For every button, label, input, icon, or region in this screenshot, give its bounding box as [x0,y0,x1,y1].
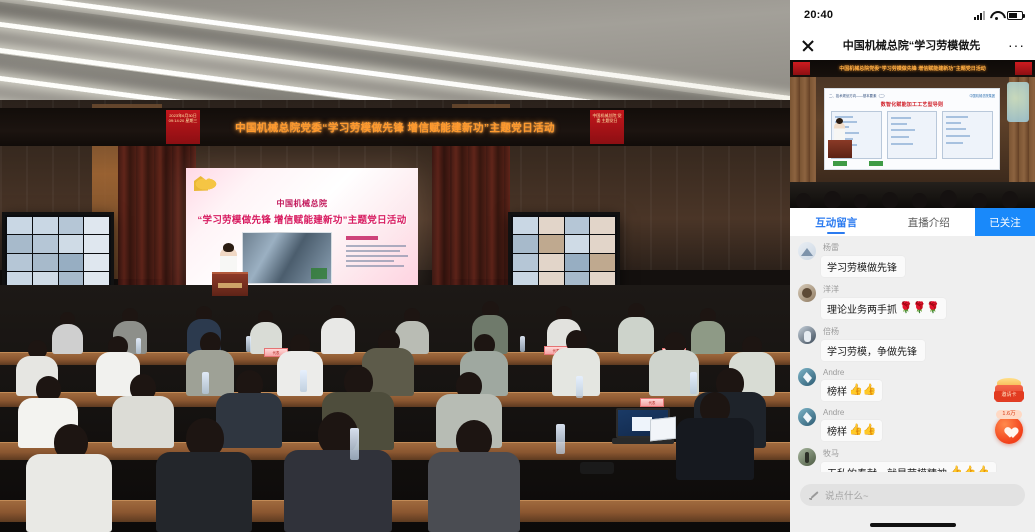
water-bottle [246,336,251,352]
message-bubble: 无私的奉献，就是劳模精神 👍👍👍 [821,462,996,472]
message-username: 倍杨 [821,326,925,337]
battery-icon [1007,11,1023,20]
video-stage-banner-text: 中国机械总院党委“学习劳模做先锋 增信赋能建新功”主题党日活动 [839,65,985,72]
tab-interactive-messages[interactable]: 互动留言 [790,208,883,236]
message-username: Andre [821,368,882,377]
water-bottle [300,370,307,392]
avatar[interactable] [798,242,816,260]
stage-curtain-left [118,130,196,290]
projection-title-line1: 中国机械总院 [186,198,418,209]
desk-nameplate: 代表 [640,398,664,407]
follow-button-label: 已关注 [989,215,1021,230]
video-banner-side-right [1015,62,1032,75]
hall-banner: 中国机械总院党委“学习劳模做先锋 增信赋能建新功”主题党日活动 [0,108,790,146]
status-bar: 20:40 [790,0,1035,30]
close-icon[interactable] [800,37,816,53]
status-icons [974,11,1023,20]
water-bottle [556,424,565,454]
comment-input[interactable]: 说点什么~ [800,484,1025,506]
message-bubble: 榜样 👍👍 [821,420,882,441]
message-text: 无私的奉献，就是劳模精神 [827,465,947,472]
message-emojis: 🌹🌹🌹 [899,303,940,314]
message-bubble: 学习劳模做先锋 [821,256,905,277]
slide-header-left: 二、技术规划方向——基本要素（二） [829,93,887,98]
nav-bar: 中国机械总院“学习劳模做先 ··· [790,30,1035,60]
chat-message: 牧马 无私的奉献，就是劳模精神 👍👍👍 [798,448,1027,472]
slide-map-graphic [1007,82,1029,122]
desk-row-4 [0,500,790,522]
tab-bar: 互动留言 直播介绍 已关注 [790,208,1035,236]
conference-hall-photo: 中国机械总院党委“学习劳模做先锋 增信赋能建新功”主题党日活动 2023年6月3… [0,0,790,532]
comment-input-bar: 说点什么~ [790,472,1035,518]
message-username: Andre [821,408,882,417]
hall-banner-side-left: 2023年6月30日 09:14:20 星期三 [166,110,200,144]
video-audience-silhouette [790,182,1035,208]
hall-banner-text: 中国机械总院党委“学习劳模做先锋 增信赋能建新功”主题党日活动 [235,120,555,135]
water-bottle [520,336,525,352]
chat-message: 洋洋 理论业务两手抓 🌹🌹🌹 [798,284,1027,319]
water-bottle [576,376,583,398]
chat-message: 杨雷 学习劳模做先锋 [798,242,1027,277]
comment-input-placeholder: 说点什么~ [825,488,869,502]
projection-text-block [346,236,412,270]
smartphone-on-desk [580,462,614,474]
video-banner-side-left [793,62,810,75]
message-username: 牧马 [821,448,996,459]
projection-photo [242,232,332,284]
podium [212,272,248,296]
water-bottle [350,428,359,460]
avatar[interactable] [798,408,816,426]
water-bottle [202,372,209,394]
video-grid-left [7,217,109,289]
stage-curtain-right [432,130,510,290]
message-text: 学习劳模做先锋 [827,259,897,274]
message-emojis: 👍👍 [849,385,876,396]
floating-action-widgets: 邀请卡 1.6万 [991,372,1027,444]
message-emojis: 👍👍 [849,425,876,436]
message-text: 理论业务两手抓 [827,301,897,316]
gift-box-icon[interactable]: 邀请卡 [993,372,1025,402]
side-monitor-right [508,212,620,294]
message-emojis: 👍👍👍 [949,467,990,472]
slide-title: 数智化赋能加工工艺型导则 [825,101,999,108]
pencil-icon [809,490,819,500]
message-text: 学习劳模，争做先锋 [827,343,917,358]
screenshot-root: 中国机械总院党委“学习劳模做先锋 增信赋能建新功”主题党日活动 2023年6月3… [0,0,1035,532]
heart-icon [1002,423,1015,435]
message-bubble: 理论业务两手抓 🌹🌹🌹 [821,298,946,319]
like-count: 1.6万 [996,410,1022,419]
ceiling [0,0,790,112]
wifi-icon [990,11,1002,20]
projection-title-line2: “学习劳模做先锋 增信赋能建新功”主题党日活动 [186,212,418,226]
follow-button[interactable]: 已关注 [975,208,1035,236]
video-podium [828,140,852,158]
avatar[interactable] [798,326,816,344]
avatar[interactable] [798,368,816,386]
video-grid-right [513,217,615,289]
more-dots-icon[interactable]: ··· [1007,40,1025,50]
tab-live-intro[interactable]: 直播介绍 [883,208,976,236]
tab-label: 直播介绍 [908,215,950,230]
live-stream-phone-panel: 20:40 中国机械总院“学习劳模做先 ··· 中国机械总院党委“学习劳模做先锋… [790,0,1035,532]
signal-bars-icon [974,11,985,20]
status-time: 20:40 [804,9,833,21]
slide-header-right: 中国机械总院集团 [970,93,996,98]
slide-footer-tags [833,161,883,166]
page-title: 中国机械总院“学习劳模做先 [816,37,1007,53]
avatar[interactable] [798,284,816,302]
chat-message: 倍杨 学习劳模，争做先锋 [798,326,1027,361]
like-button[interactable]: 1.6万 [994,410,1024,444]
side-monitor-left [2,212,114,294]
video-stage-banner: 中国机械总院党委“学习劳模做先锋 增信赋能建新功”主题党日活动 [790,60,1035,77]
message-bubble: 学习劳模，争做先锋 [821,340,925,361]
slide-header: 二、技术规划方向——基本要素（二） 中国机械总院集团 [829,92,995,99]
hall-banner-side-right: 中国机械总院 党委 主题党日 [590,110,624,144]
water-bottle [690,372,697,394]
slide-cards [831,111,993,159]
message-username: 洋洋 [821,284,946,295]
live-video-player[interactable]: 中国机械总院党委“学习劳模做先锋 增信赋能建新功”主题党日活动 二、技术规划方向… [790,60,1035,208]
tablet [650,417,676,442]
message-text: 榜样 [827,383,847,398]
tab-label: 互动留言 [815,215,857,230]
message-username: 杨雷 [821,242,905,253]
water-bottle [136,338,141,354]
message-bubble: 榜样 👍👍 [821,380,882,401]
gift-label: 邀请卡 [994,391,1024,400]
video-wood-panel-left [790,77,816,187]
home-indicator [790,518,1035,532]
message-text: 榜样 [827,423,847,438]
avatar[interactable] [798,448,816,466]
